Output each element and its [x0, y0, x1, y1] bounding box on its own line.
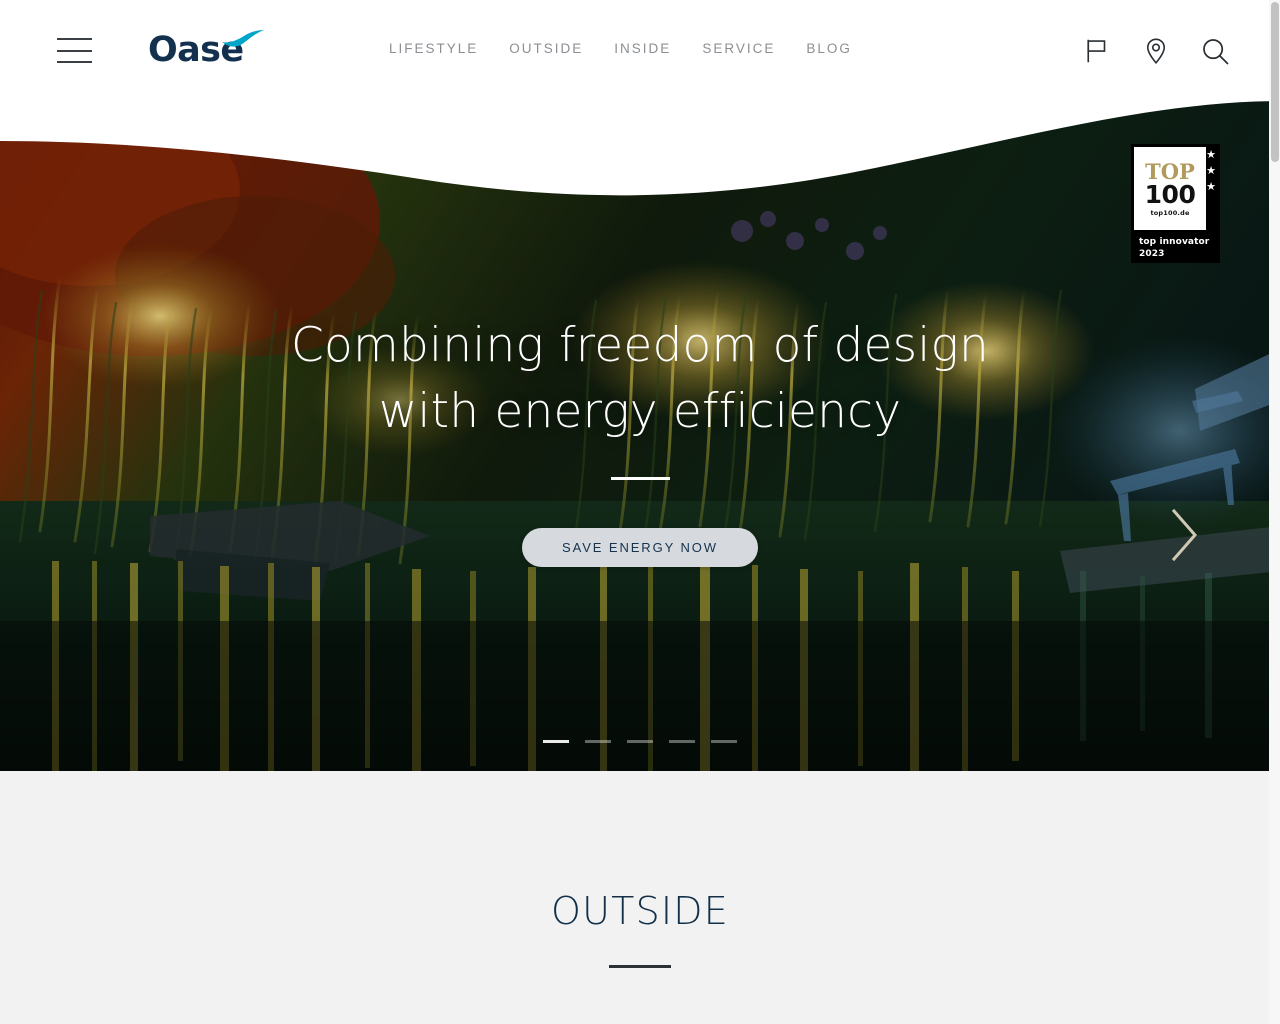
badge-star: ★	[1206, 166, 1216, 177]
chevron-right-icon[interactable]	[1166, 507, 1202, 563]
badge-number: 100	[1145, 182, 1196, 207]
page-scrollbar[interactable]	[1269, 0, 1280, 1024]
badge-subtitle-line1: top innovator	[1139, 236, 1209, 248]
hamburger-line	[57, 38, 92, 40]
hero-headline: Combining freedom of design with energy …	[190, 313, 1090, 445]
top100-award-badge[interactable]: TOP 100 top100.de ★ ★ ★ top innovator 20…	[1131, 144, 1220, 263]
badge-emblem: TOP 100 top100.de	[1134, 147, 1206, 230]
main-navigation: LIFESTYLE OUTSIDE INSIDE SERVICE BLOG	[389, 41, 883, 56]
badge-star: ★	[1206, 150, 1216, 161]
flag-icon[interactable]	[1082, 36, 1112, 66]
outside-section: OUTSIDE	[0, 771, 1280, 1024]
hero-content: Combining freedom of design with energy …	[0, 101, 1280, 771]
badge-star: ★	[1206, 182, 1216, 193]
hamburger-line	[57, 61, 92, 63]
hero-carousel: Combining freedom of design with energy …	[0, 101, 1280, 771]
section-title: OUTSIDE	[551, 889, 729, 933]
badge-subtitle-line2: 2023	[1139, 248, 1209, 260]
location-pin-icon[interactable]	[1141, 36, 1171, 66]
header-icon-group	[1082, 36, 1230, 66]
page-root: Oase LIFESTYLE OUTSIDE INSIDE SERVICE BL…	[0, 0, 1280, 1024]
nav-item-inside[interactable]: INSIDE	[614, 41, 702, 56]
search-icon[interactable]	[1200, 36, 1230, 66]
hamburger-line	[57, 50, 92, 52]
section-divider-rule	[609, 965, 671, 968]
save-energy-now-button[interactable]: SAVE ENERGY NOW	[522, 528, 758, 567]
badge-subtitle: top innovator 2023	[1139, 236, 1209, 260]
logo-swoosh-icon	[222, 30, 264, 48]
nav-item-service[interactable]: SERVICE	[702, 41, 806, 56]
site-logo[interactable]: Oase	[148, 28, 258, 73]
site-header: Oase LIFESTYLE OUTSIDE INSIDE SERVICE BL…	[0, 0, 1280, 101]
scrollbar-thumb[interactable]	[1271, 2, 1279, 162]
badge-top-word: TOP	[1145, 162, 1195, 182]
badge-stars: ★ ★ ★	[1206, 150, 1216, 193]
hero-headline-line1: Combining freedom of design	[190, 313, 1090, 379]
hero-headline-line2: with energy efficiency	[190, 379, 1090, 445]
hero-divider-rule	[611, 477, 670, 480]
nav-item-blog[interactable]: BLOG	[806, 41, 883, 56]
nav-item-outside[interactable]: OUTSIDE	[509, 41, 614, 56]
hamburger-menu-icon[interactable]	[57, 38, 92, 63]
badge-url: top100.de	[1150, 209, 1189, 217]
nav-item-lifestyle[interactable]: LIFESTYLE	[389, 41, 509, 56]
